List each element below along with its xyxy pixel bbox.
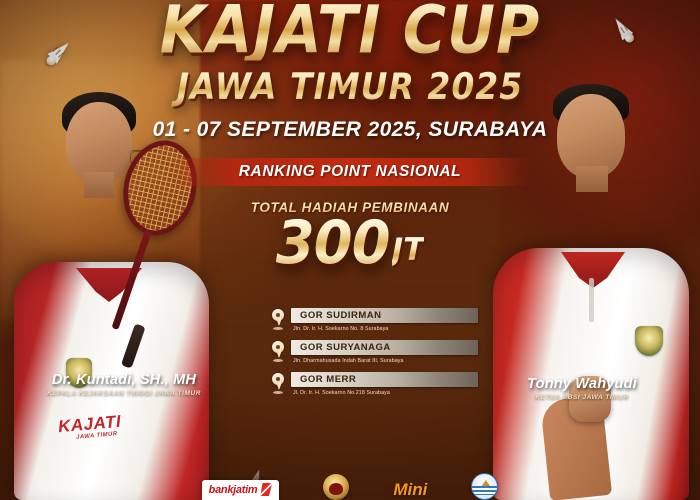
portrait-right-emblem-badge [635,326,663,356]
portrait-kajati: KAJATI JAWA TIMUR [6,80,221,500]
person-name: Dr. Kuntadi, SH., MH [14,372,234,388]
tournament-poster: KAJATI JAWA TIMUR [0,0,700,500]
venue-name: GOR MERR [300,374,356,385]
nameplate-right: Tonny Wahyudi KETUA PBSI JAWA TIMUR [472,376,692,401]
venue-name-bar: GOR MERR [291,372,478,387]
venue-address: Jln. Dharmahusada Indah Barat III, Surab… [291,358,478,366]
venue-item: GOR SURYANAGA Jln. Dharmahusada Indah Ba… [268,340,478,366]
event-date-line: 01 - 07 SEPTEMBER 2025, SURABAYA [0,118,700,142]
sponsor-logo-mini: Mini [393,480,427,500]
sponsor-logo-bankjatim: bankjatim [202,480,280,500]
venue-item: GOR SUDIRMAN Jln. Dr. Ir. H. Soekarno No… [268,308,478,334]
portrait-left-neck [84,172,114,198]
sponsor-strip: bankjatim Mini [0,470,700,500]
venue-address: Jl. Dr. Ir. H. Soekarno No.218 Surabaya [291,390,478,398]
venue-name: GOR SUDIRMAN [300,310,381,321]
ranking-band: RANKING POINT NASIONAL [170,158,530,186]
sponsor-logo-blue-circle [471,473,498,500]
person-name: Tonny Wahyudi [472,376,692,392]
ranking-band-label: RANKING POINT NASIONAL [239,163,461,181]
venue-list: GOR SUDIRMAN Jln. Dr. Ir. H. Soekarno No… [268,308,478,404]
title-jawa-timur: JAWA TIMUR 2025 [0,66,700,109]
venue-address: Jln. Dr. Ir. H. Soekarno No. 8 Surabaya [291,326,478,334]
portrait-right-neck [576,166,608,192]
portrait-right-jersey [493,248,689,500]
person-role: KEPALA KEJAKSAAN TINGGI JAWA TIMUR [14,390,234,397]
gold-emblem-icon [323,474,349,500]
nameplate-left: Dr. Kuntadi, SH., MH KEPALA KEJAKSAAN TI… [14,372,234,397]
prize-block: TOTAL HADIAH PEMBINAAN 300 JT [200,200,500,272]
poster-title-block: KAJATI CUP JAWA TIMUR 2025 [0,0,700,106]
prize-amount-number: 300 [276,214,390,273]
portrait-right-placket [589,278,594,322]
portrait-pbsi [483,80,698,500]
prize-amount: 300 JT [200,216,500,272]
person-role: KETUA PBSI JAWA TIMUR [472,394,692,401]
location-pin-icon [268,372,288,396]
venue-item: GOR MERR Jl. Dr. Ir. H. Soekarno No.218 … [268,372,478,398]
venue-name: GOR SURYANAGA [300,342,391,353]
location-pin-icon [268,340,288,364]
bankjatim-mark-icon [260,483,272,496]
prize-amount-unit: JT [392,235,425,272]
venue-name-bar: GOR SURYANAGA [291,340,478,355]
blue-circle-logo-icon [471,473,498,500]
title-kajati-cup: KAJATI CUP [0,0,700,61]
venue-name-bar: GOR SUDIRMAN [291,308,478,323]
location-pin-icon [268,308,288,332]
sponsor-mini-label: Mini [393,480,427,500]
sponsor-bankjatim-label: bankjatim [209,484,258,496]
sponsor-logo-gold-emblem [323,474,349,500]
